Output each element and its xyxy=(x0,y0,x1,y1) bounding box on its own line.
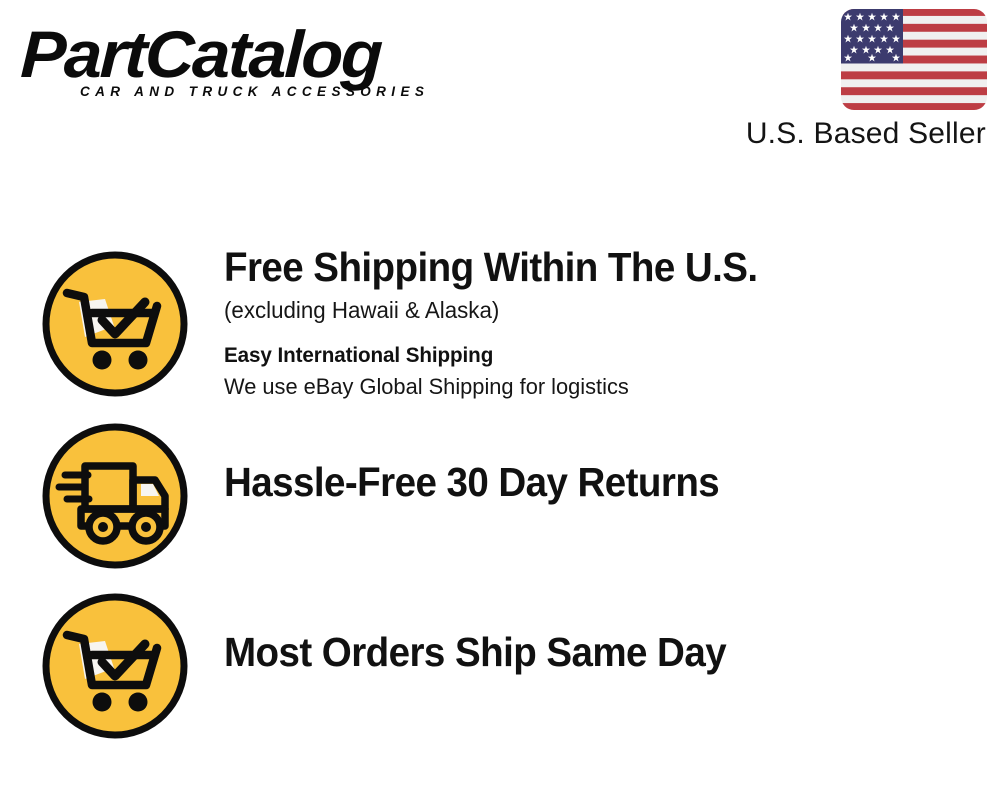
shopping-cart-check-icon xyxy=(41,250,189,398)
brand-logo[interactable]: PartCatalog CAR AND TRUCK ACCESSORIES xyxy=(22,18,492,114)
benefit-heading: Free Shipping Within The U.S. xyxy=(224,243,953,291)
benefit-subheading: Easy International Shipping xyxy=(224,340,969,371)
benefit-subtext: (excluding Hawaii & Alaska) xyxy=(224,294,977,326)
benefit-heading: Hassle-Free 30 Day Returns xyxy=(224,458,953,506)
brand-wordmark: PartCatalog xyxy=(19,18,510,90)
benefit-icon-container xyxy=(0,415,230,570)
us-flag-icon xyxy=(840,8,988,111)
delivery-truck-icon xyxy=(41,422,189,570)
us-based-seller-label: U.S. Based Seller xyxy=(708,116,986,152)
shopping-cart-check-icon xyxy=(41,592,189,740)
benefit-text-block: Free Shipping Within The U.S. (excluding… xyxy=(224,243,1000,402)
benefit-text-block: Most Orders Ship Same Day xyxy=(224,585,1000,676)
benefit-icon-container xyxy=(0,243,230,398)
benefit-icon-container xyxy=(0,585,230,740)
benefit-text-block: Hassle-Free 30 Day Returns xyxy=(224,415,1000,506)
benefit-row: Free Shipping Within The U.S. (excluding… xyxy=(0,243,1000,402)
benefit-row: Hassle-Free 30 Day Returns xyxy=(0,415,1000,570)
us-based-seller-badge: U.S. Based Seller xyxy=(708,8,988,152)
benefit-subtext-secondary: We use eBay Global Shipping for logistic… xyxy=(224,371,977,402)
benefit-heading: Most Orders Ship Same Day xyxy=(224,628,953,676)
benefit-row: Most Orders Ship Same Day xyxy=(0,585,1000,740)
